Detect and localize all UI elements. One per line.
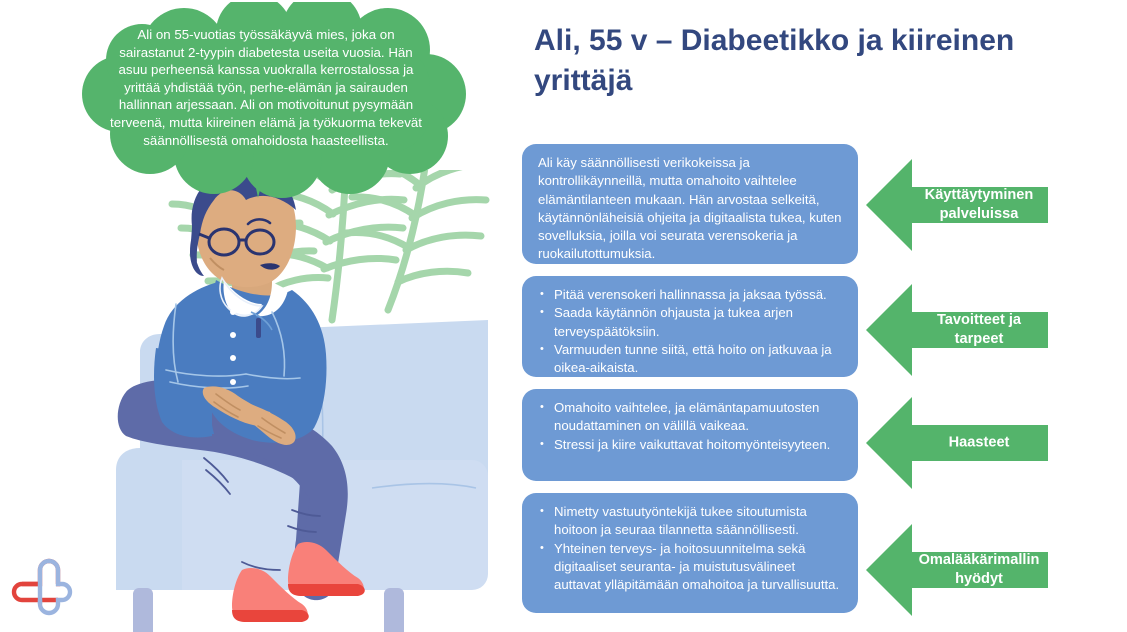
arrow-goals: Tavoitteet ja tarpeet <box>864 280 1050 380</box>
list-item: Pitää verensokeri hallinnassa ja jaksaa … <box>538 286 844 304</box>
content-paragraph: Ali käy säännöllisesti verikokeissa ja k… <box>538 154 844 264</box>
list-item: Nimetty vastuutyöntekijä tukee sitoutumi… <box>538 503 844 540</box>
arrow-label: Omalääkärimallin hyödyt <box>912 551 1046 589</box>
interlocking-crosses-logo <box>14 561 70 613</box>
thought-bubble-text: Ali on 55-vuotias työssäkäyvä mies, joka… <box>106 26 426 149</box>
content-box-goals: Pitää verensokeri hallinnassa ja jaksaa … <box>522 276 858 377</box>
content-box-behaviour: Ali käy säännöllisesti verikokeissa ja k… <box>522 144 858 264</box>
persona-illustration <box>96 170 490 632</box>
bullet-list: Nimetty vastuutyöntekijä tukee sitoutumi… <box>538 503 844 594</box>
bullet-list: Pitää verensokeri hallinnassa ja jaksaa … <box>538 286 844 377</box>
arrow-label: Tavoitteet ja tarpeet <box>912 311 1046 349</box>
organisation-logo <box>10 556 74 618</box>
arrow-label: Haasteet <box>912 434 1046 453</box>
arrow-label: Käyttäytyminen palveluissa <box>912 186 1046 224</box>
page-title: Ali, 55 v – Diabeetikko ja kiireinen yri… <box>534 21 1094 101</box>
content-box-challenges: Omahoito vaihtelee, ja elämäntapamuutost… <box>522 389 858 481</box>
list-item: Varmuuden tunne siitä, että hoito on jat… <box>538 341 844 378</box>
list-item: Yhteinen terveys- ja hoitosuunnitelma se… <box>538 540 844 595</box>
list-item: Stressi ja kiire vaikuttavat hoitomyönte… <box>538 436 844 454</box>
content-box-benefits: Nimetty vastuutyöntekijä tukee sitoutumi… <box>522 493 858 613</box>
slide-canvas: Ali on 55-vuotias työssäkäyvä mies, joka… <box>0 0 1127 632</box>
bullet-list: Omahoito vaihtelee, ja elämäntapamuutost… <box>538 399 844 454</box>
arrow-benefits: Omalääkärimallin hyödyt <box>864 520 1050 620</box>
thought-bubble: Ali on 55-vuotias työssäkäyvä mies, joka… <box>58 2 478 232</box>
list-item: Omahoito vaihtelee, ja elämäntapamuutost… <box>538 399 844 436</box>
arrow-behaviour: Käyttäytyminen palveluissa <box>864 155 1050 255</box>
list-item: Saada käytännön ohjausta ja tukea arjen … <box>538 304 844 341</box>
arrow-challenges: Haasteet <box>864 393 1050 493</box>
